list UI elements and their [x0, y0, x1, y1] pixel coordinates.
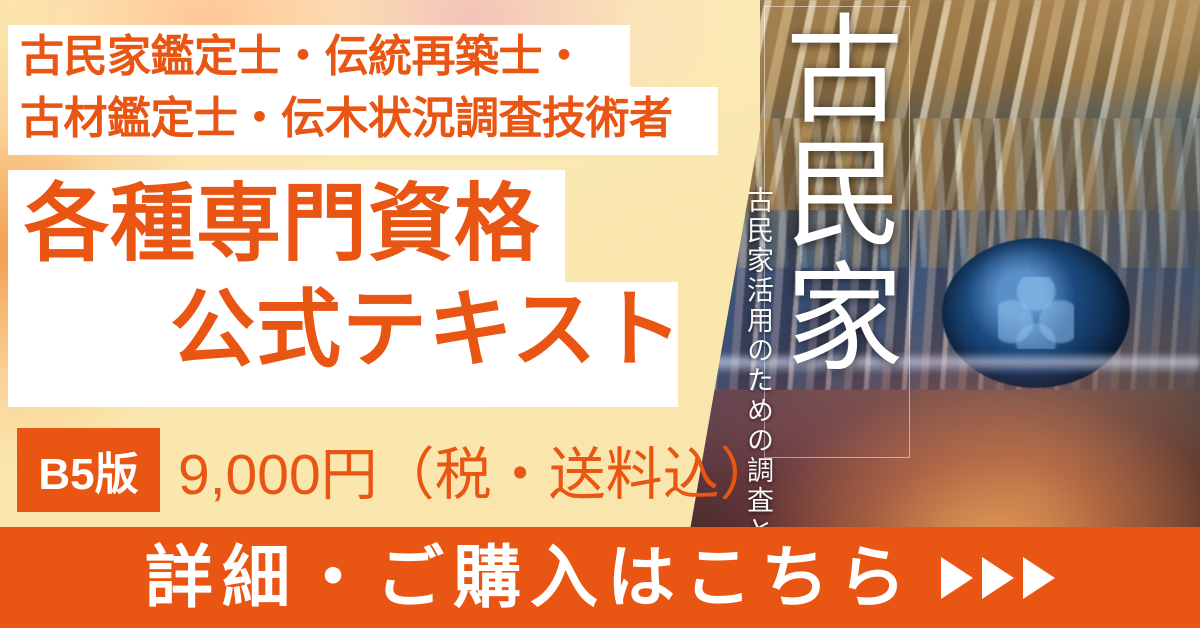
cta-bar[interactable]: 詳細・ご購入はこちら: [0, 527, 1200, 628]
certifications-text: 古民家鑑定士・伝統再築士・ 古材鑑定士・伝木状況調査技術者: [20, 26, 726, 150]
triangle-right-icon: [1023, 557, 1055, 599]
format-badge: B5版: [17, 428, 160, 512]
cover-title: 古民家: [772, 8, 902, 380]
certifications-line-1: 古民家鑑定士・伝統再築士・: [20, 26, 726, 88]
headline-line-1: 各種専門資格: [24, 182, 540, 267]
cta-label: 詳細・ご購入はこちら: [145, 544, 915, 612]
triangle-right-icon: [941, 557, 973, 599]
cta-arrow-group: [941, 557, 1055, 599]
headline-line-2: 公式テキスト: [170, 288, 683, 373]
certifications-line-2: 古材鑑定士・伝木状況調査技術者: [20, 88, 726, 150]
price-text: 9,000円（税・送料込）: [178, 432, 777, 508]
promo-banner[interactable]: 古民家 伝統構法 古民家活用のための調査と再生の 古民家鑑定士・伝統再築士・ 古…: [0, 0, 1200, 628]
triangle-right-icon: [982, 557, 1014, 599]
